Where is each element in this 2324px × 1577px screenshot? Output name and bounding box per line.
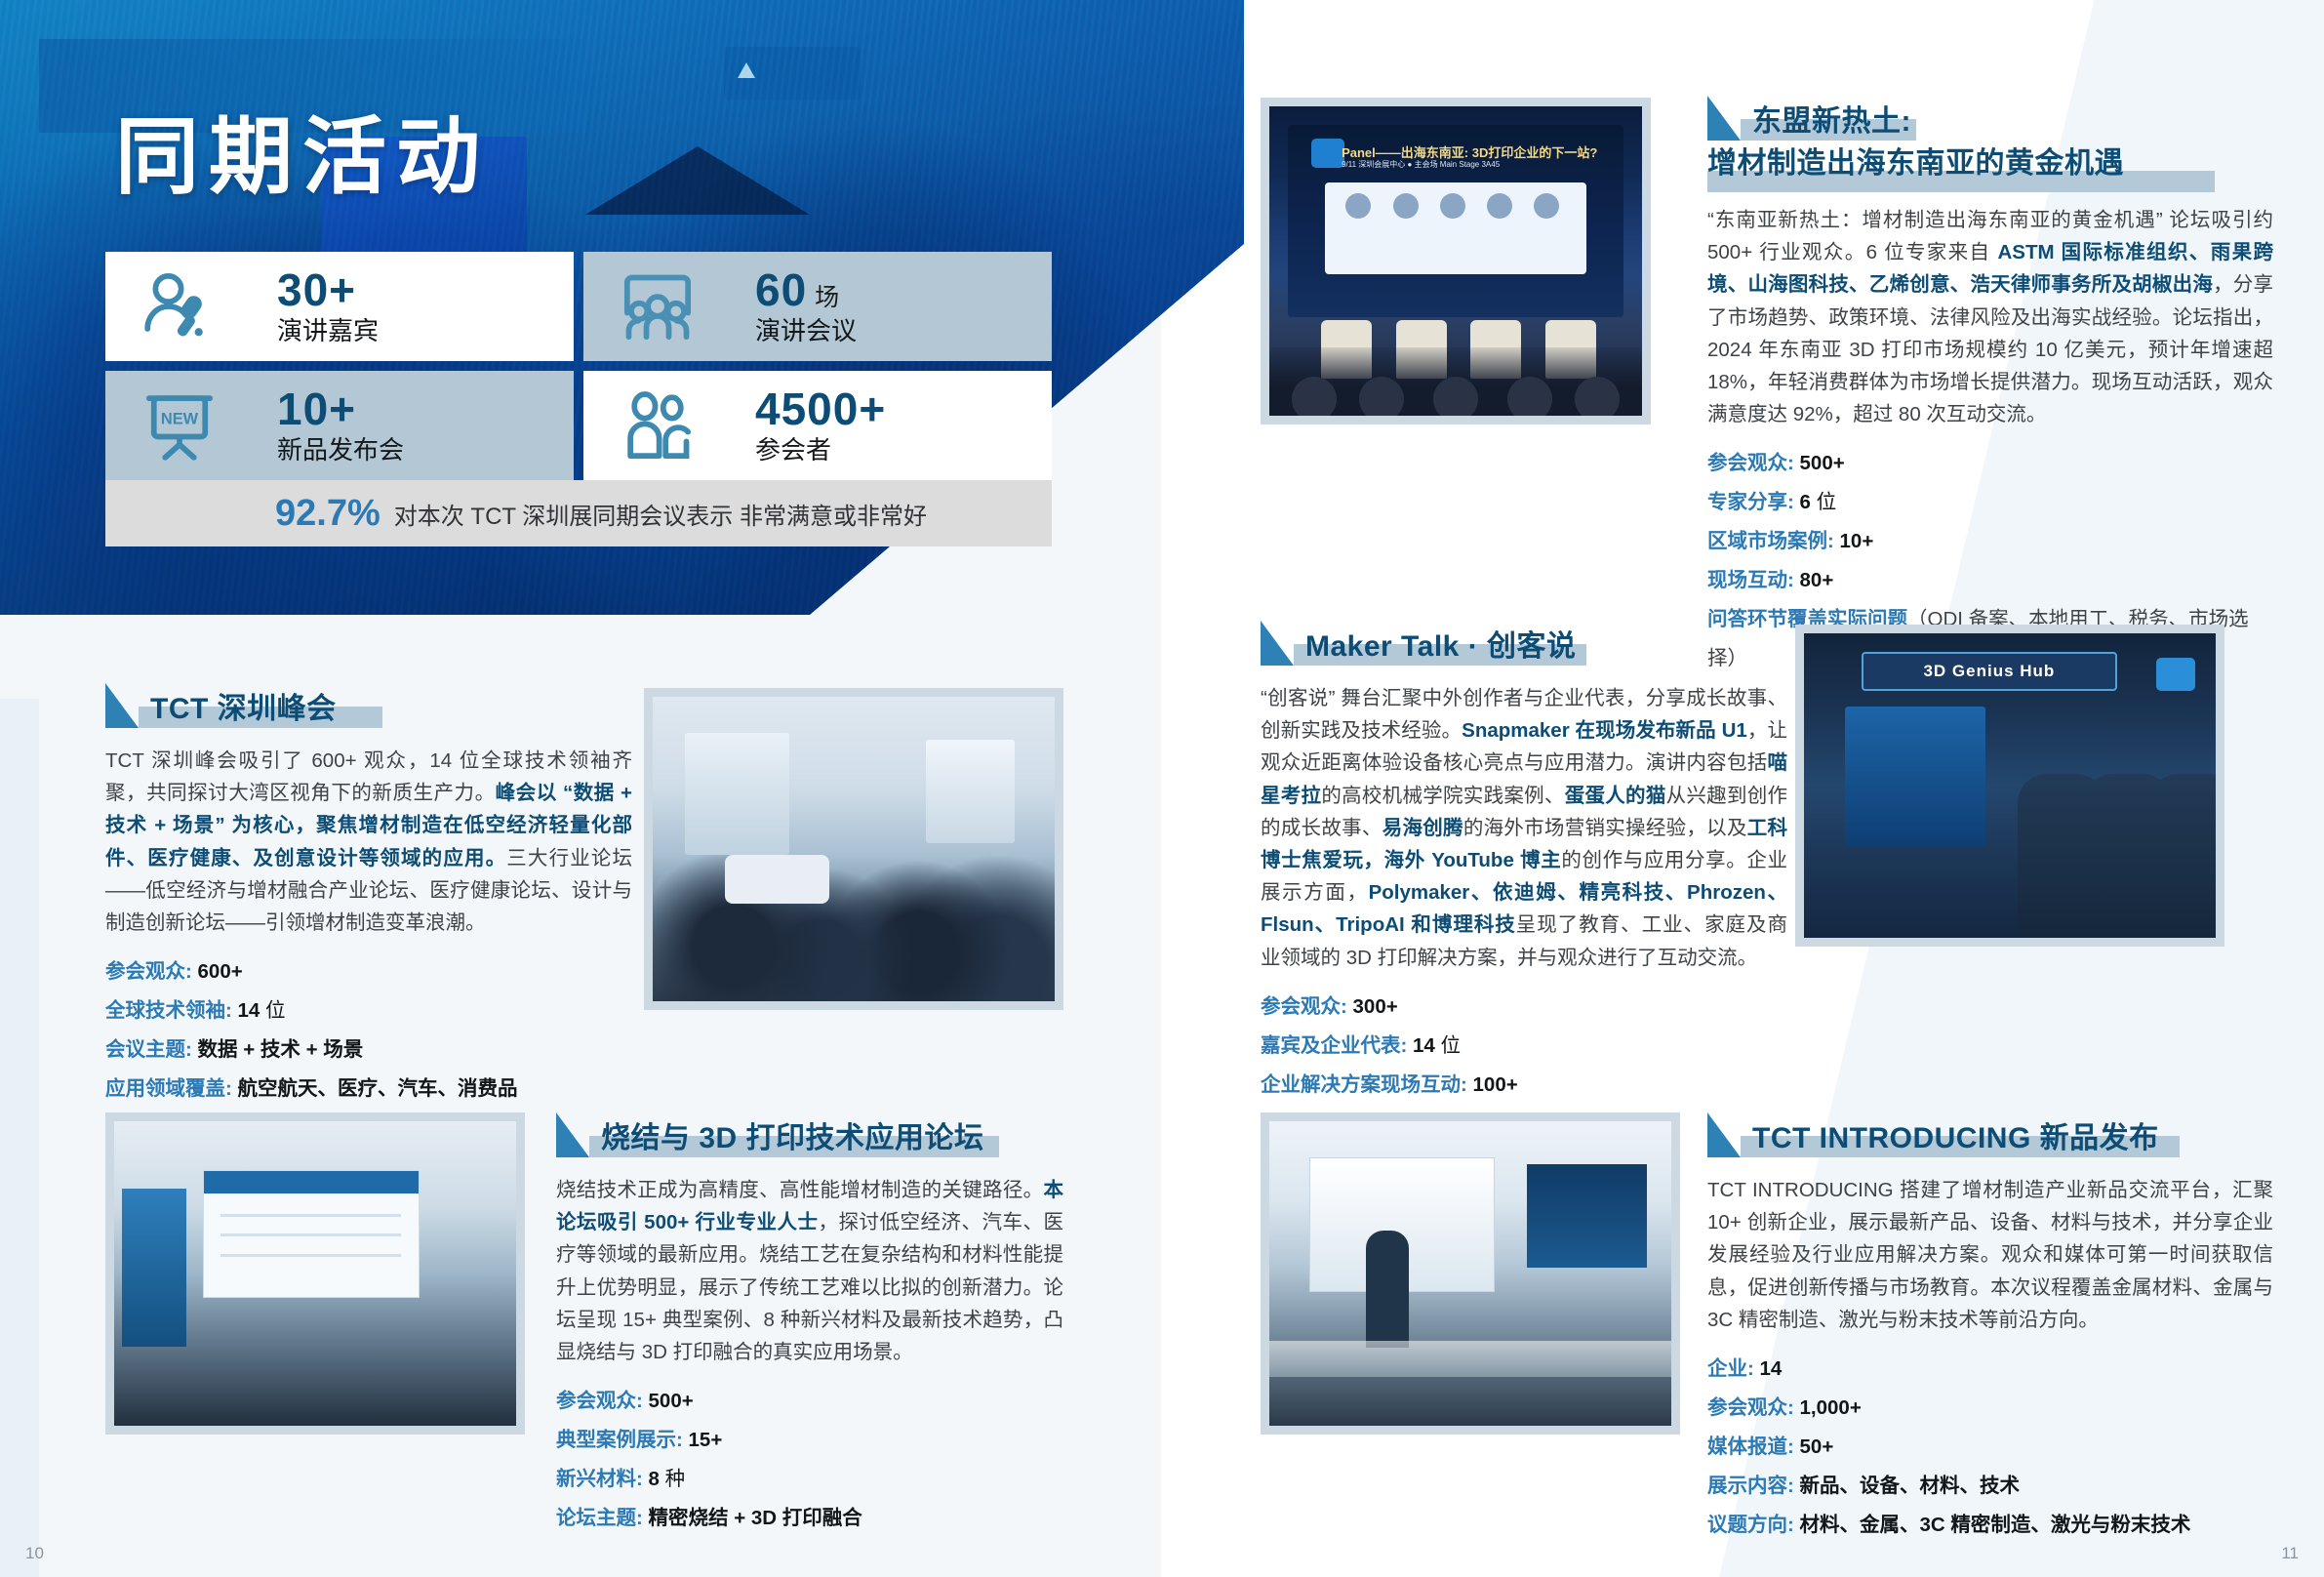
photo-image: 3D Genius Hub xyxy=(1804,633,2216,938)
stat-line-unit: 位 xyxy=(260,999,285,1022)
stat-card-sessions: 60场 演讲会议 xyxy=(583,252,1052,361)
stat-line-value: 50+ xyxy=(1800,1435,1834,1458)
page-number-left: 10 xyxy=(25,1544,44,1563)
speaker-mic-icon xyxy=(135,264,224,348)
stat-value: 60场 xyxy=(755,266,857,313)
stat-line-value: 80+ xyxy=(1800,569,1834,591)
section-heading-maker: Maker Talk · 创客说 xyxy=(1261,621,1604,666)
stat-line: 新兴材料: 8 种 xyxy=(556,1460,1063,1499)
section-sintering: 烧结与 3D 打印技术应用论坛 烧结技术正成为高精度、高性能增材制造的关键路径。… xyxy=(556,1112,1063,1538)
photo-introducing-stage xyxy=(1261,1112,1680,1435)
stat-line-value: 100+ xyxy=(1473,1073,1518,1096)
stat-line-value: 8 xyxy=(649,1468,660,1490)
stat-line-value: 新品、设备、材料、技术 xyxy=(1800,1475,2021,1497)
section-paragraph: “东南亚新热土：增材制造出海东南亚的黄金机遇” 论坛吸引约 500+ 行业观众。… xyxy=(1707,204,2273,430)
stat-line: 参会观众: 500+ xyxy=(1707,444,2273,483)
slide-header xyxy=(204,1171,419,1193)
stat-line: 应用领域覆盖: 航空航天、医疗、汽车、消费品 xyxy=(105,1070,632,1109)
stat-line-value: 14 xyxy=(1760,1357,1783,1380)
exit-sign xyxy=(724,47,861,100)
stat-line: 全球技术领袖: 14 位 xyxy=(105,991,632,1031)
section-paragraph: 烧结技术正成为高精度、高性能增材制造的关键路径。本论坛吸引 500+ 行业专业人… xyxy=(556,1174,1063,1368)
paragraph-emphasis: 蛋蛋人的猫 xyxy=(1565,785,1666,807)
photo-sintering-forum xyxy=(105,1112,525,1435)
stat-line: 会议主题: 数据 + 技术 + 场景 xyxy=(105,1031,632,1070)
stat-line-key: 嘉宾及企业代表: xyxy=(1261,1034,1413,1057)
stat-line-unit: 位 xyxy=(1435,1034,1461,1057)
stat-line-unit: 种 xyxy=(660,1468,685,1490)
stat-line-value: 300+ xyxy=(1353,995,1398,1018)
genius-hub-label: 3D Genius Hub xyxy=(1863,654,2115,690)
side-banner xyxy=(122,1189,186,1347)
section-maker: Maker Talk · 创客说 “创客说” 舞台汇聚中外创作者与企业代表，分享… xyxy=(1261,621,1787,1105)
avatar xyxy=(1440,193,1465,219)
section-title: TCT INTRODUCING 新品发布 xyxy=(1741,1122,2169,1158)
photo-asean-panel: Panel——出海东南亚: 3D打印企业的下一站? 9/11 深圳会展中心 ● … xyxy=(1261,98,1651,425)
stat-line: 企业: 14 xyxy=(1707,1350,2273,1389)
section-paragraph: TCT INTRODUCING 搭建了增材制造产业新品交流平台，汇聚 10+ 创… xyxy=(1707,1174,2273,1336)
stat-line-value: 10+ xyxy=(1840,530,1874,552)
booth-right xyxy=(926,740,1015,843)
stat-label: 参会者 xyxy=(755,434,886,466)
speaker-person xyxy=(1366,1231,1409,1348)
people-group-icon xyxy=(613,384,702,467)
stat-line-key: 参会观众: xyxy=(105,960,198,983)
stat-line-value: 材料、金属、3C 精密制造、激光与粉末技术 xyxy=(1800,1514,2191,1536)
stat-text-launches: 10+ 新品发布会 xyxy=(277,385,404,466)
section-title: 烧结与 3D 打印技术应用论坛 xyxy=(589,1122,994,1158)
stat-line-value: 600+ xyxy=(198,960,243,983)
stat-line-key: 企业解决方案现场互动: xyxy=(1261,1073,1473,1096)
sofa xyxy=(725,855,829,904)
stat-line-value: 1,000+ xyxy=(1800,1396,1862,1419)
page-title: 同期活动 xyxy=(115,115,490,199)
heading-flag-icon xyxy=(1707,96,1741,141)
booth-person xyxy=(2149,774,2224,938)
section-paragraph: “创客说” 舞台汇聚中外创作者与企业代表，分享成长故事、创新实践及技术经验。Sn… xyxy=(1261,682,1787,974)
stat-line-key: 全球技术领袖: xyxy=(105,999,238,1022)
stat-text-sessions: 60场 演讲会议 xyxy=(755,266,857,347)
stat-line: 参会观众: 600+ xyxy=(105,952,632,991)
stat-text-attendees: 4500+ 参会者 xyxy=(755,385,886,466)
stat-line-key: 展示内容: xyxy=(1707,1475,1800,1497)
stat-card-launches: NEW 10+ 新品发布会 xyxy=(105,371,574,480)
heading-flag-icon xyxy=(105,683,139,728)
section-kv-list: 参会观众: 500+专家分享: 6 位区域市场案例: 10+现场互动: 80+ xyxy=(1707,444,2273,600)
section-kv-list: 参会观众: 300+嘉宾及企业代表: 14 位企业解决方案现场互动: 100+ xyxy=(1261,988,1787,1105)
stat-line: 论坛主题: 精密烧结 + 3D 打印融合 xyxy=(556,1499,1063,1538)
stat-line-value: 数据 + 技术 + 场景 xyxy=(198,1038,364,1061)
stat-card-speakers: 30+ 演讲嘉宾 xyxy=(105,252,574,361)
section-title: Maker Talk · 创客说 xyxy=(1294,630,1586,667)
section-paragraph: TCT 深圳峰会吸引了 600+ 观众，14 位全球技术领袖齐聚，共同探讨大湾区… xyxy=(105,745,632,939)
section-heading-asean-line1: 东盟新热土: xyxy=(1707,96,1939,141)
stat-line: 参会观众: 1,000+ xyxy=(1707,1389,2273,1428)
avatar xyxy=(1487,193,1512,219)
stat-value: 10+ xyxy=(277,385,404,432)
crowd-head xyxy=(1359,377,1404,422)
crowd-head xyxy=(1575,377,1620,422)
paragraph-text: TCT INTRODUCING 搭建了增材制造产业新品交流平台，汇聚 10+ 创… xyxy=(1707,1179,2273,1331)
section-heading-introducing: TCT INTRODUCING 新品发布 xyxy=(1707,1112,2186,1157)
stat-line-value: 15+ xyxy=(689,1429,723,1451)
stat-line-unit: 位 xyxy=(1811,491,1836,513)
stat-line-key: 区域市场案例: xyxy=(1707,530,1840,552)
paragraph-emphasis: 易海创腾 xyxy=(1382,817,1463,839)
stat-line-value: 精密烧结 + 3D 打印融合 xyxy=(649,1507,862,1529)
slide-line xyxy=(220,1214,401,1217)
stat-row-top: 30+ 演讲嘉宾 xyxy=(105,252,1052,361)
stat-line-value: 500+ xyxy=(649,1390,694,1412)
stat-line-key: 媒体报道: xyxy=(1707,1435,1800,1458)
stage-screen: Panel——出海东南亚: 3D打印企业的下一站? 9/11 深圳会展中心 ● … xyxy=(1288,125,1623,317)
stat-label: 新品发布会 xyxy=(277,434,404,466)
section-title: TCT 深圳峰会 xyxy=(139,693,346,729)
stat-line: 参会观众: 500+ xyxy=(556,1382,1063,1421)
stat-line-key: 参会观众: xyxy=(1261,995,1353,1018)
stat-line: 议题方向: 材料、金属、3C 精密制造、激光与粉末技术 xyxy=(1707,1506,2273,1545)
audience-chairs xyxy=(1269,1341,1671,1377)
stat-line-key: 论坛主题: xyxy=(556,1507,649,1529)
booth-left xyxy=(685,733,789,855)
stat-line-key: 新兴材料: xyxy=(556,1468,649,1490)
stat-text-speakers: 30+ 演讲嘉宾 xyxy=(277,266,379,347)
crowd-head xyxy=(1507,377,1552,422)
tct-logo-icon xyxy=(1311,139,1344,168)
paragraph-text: 的海外市场营销实操经验，以及 xyxy=(1463,817,1747,839)
left-edge-strip xyxy=(0,699,39,1577)
section-heading-summit: TCT 深圳峰会 xyxy=(105,683,364,728)
tent-canopy xyxy=(585,146,810,215)
stage-screen xyxy=(1527,1164,1648,1268)
photo-image: Panel——出海东南亚: 3D打印企业的下一站? 9/11 深圳会展中心 ● … xyxy=(1269,106,1642,416)
stat-line-key: 参会观众: xyxy=(1707,452,1800,474)
stat-card-grid: 30+ 演讲嘉宾 xyxy=(105,252,1052,490)
stat-line: 企业解决方案现场互动: 100+ xyxy=(1261,1066,1787,1105)
photo-image xyxy=(1269,1121,1671,1426)
paragraph-text: 烧结技术正成为高精度、高性能增材制造的关键路径。 xyxy=(556,1179,1044,1201)
paragraph-text: 的高校机械学院实践案例、 xyxy=(1321,785,1564,807)
panel-speaker-card xyxy=(1325,182,1586,274)
stat-line: 媒体报道: 50+ xyxy=(1707,1428,2273,1467)
section-asean: 东盟新热土: 增材制造出海东南亚的黄金机遇 “东南亚新热土：增材制造出海东南亚的… xyxy=(1707,96,2273,678)
stat-line-key: 应用领域覆盖: xyxy=(105,1077,238,1100)
stat-line-key: 专家分享: xyxy=(1707,491,1800,513)
screen-subtitle: 9/11 深圳会展中心 ● 主会场 Main Stage 3A45 xyxy=(1342,159,1500,170)
section-subtitle: 增材制造出海东南亚的黄金机遇 xyxy=(1707,147,2256,183)
paragraph-emphasis: Snapmaker 在现场发布新品 U1 xyxy=(1462,719,1747,742)
stat-line-key: 参会观众: xyxy=(556,1390,649,1412)
stat-line-key: 议题方向: xyxy=(1707,1514,1800,1536)
stat-line-value: 6 xyxy=(1800,491,1811,513)
slide-line xyxy=(220,1254,401,1257)
avatar xyxy=(1393,193,1419,219)
stat-line: 嘉宾及企业代表: 14 位 xyxy=(1261,1027,1787,1066)
crowd-head xyxy=(1292,377,1337,422)
satisfaction-bar: 92.7% 对本次 TCT 深圳展同期会议表示 非常满意或非常好 xyxy=(105,480,1052,546)
section-kv-list: 参会观众: 500+典型案例展示: 15+新兴材料: 8 种论坛主题: 精密烧结… xyxy=(556,1382,1063,1538)
stat-line-value: 航空航天、医疗、汽车、消费品 xyxy=(238,1077,518,1100)
brochure-spread: 同期活动 30+ 演讲嘉宾 xyxy=(0,0,2324,1577)
section-heading-asean-line2: 增材制造出海东南亚的黄金机遇 xyxy=(1707,147,2273,192)
new-product-board-icon: NEW xyxy=(135,384,224,467)
stat-value: 4500+ xyxy=(755,385,886,432)
stat-label: 演讲会议 xyxy=(755,315,857,347)
photo-summit-audience xyxy=(644,688,1063,1010)
photo-image xyxy=(114,1121,516,1426)
section-kv-list: 企业: 14参会观众: 1,000+媒体报道: 50+展示内容: 新品、设备、材… xyxy=(1707,1350,2273,1545)
stat-card-attendees: 4500+ 参会者 xyxy=(583,371,1052,480)
stat-line: 展示内容: 新品、设备、材料、技术 xyxy=(1707,1467,2273,1506)
section-heading-sintering: 烧结与 3D 打印技术应用论坛 xyxy=(556,1112,1012,1157)
stat-line: 典型案例展示: 15+ xyxy=(556,1421,1063,1460)
section-summit: TCT 深圳峰会 TCT 深圳峰会吸引了 600+ 观众，14 位全球技术领袖齐… xyxy=(105,683,632,1109)
audience-screen-icon xyxy=(613,264,702,348)
stat-value: 30+ xyxy=(277,266,379,313)
section-kv-list: 参会观众: 600+全球技术领袖: 14 位会议主题: 数据 + 技术 + 场景… xyxy=(105,952,632,1109)
heading-flag-icon xyxy=(1707,1112,1741,1157)
stat-row-bottom: NEW 10+ 新品发布会 xyxy=(105,371,1052,480)
stat-line-key: 参会观众: xyxy=(1707,1396,1800,1419)
stat-line: 区域市场案例: 10+ xyxy=(1707,522,2273,561)
crowd-head xyxy=(1433,377,1478,422)
svg-text:NEW: NEW xyxy=(161,410,199,427)
stat-line: 专家分享: 6 位 xyxy=(1707,483,2273,522)
presentation-slide xyxy=(203,1170,420,1298)
stat-line-value: 14 xyxy=(238,999,260,1022)
section-introducing: TCT INTRODUCING 新品发布 TCT INTRODUCING 搭建了… xyxy=(1707,1112,2273,1545)
satisfaction-percent: 92.7% xyxy=(275,493,381,535)
avatar xyxy=(1534,193,1559,219)
satisfaction-text: 对本次 TCT 深圳展同期会议表示 非常满意或非常好 xyxy=(394,497,927,531)
heading-flag-icon xyxy=(556,1112,589,1157)
heading-flag-icon xyxy=(1261,621,1294,666)
stat-line-value: 500+ xyxy=(1800,452,1845,474)
screen-title: Panel——出海东南亚: 3D打印企业的下一站? xyxy=(1342,142,1597,161)
stat-line-key: 现场互动: xyxy=(1707,569,1800,591)
stat-line-key: 企业: xyxy=(1707,1357,1760,1380)
stat-label: 演讲嘉宾 xyxy=(277,315,379,347)
avatar xyxy=(1345,193,1371,219)
page-number-right: 11 xyxy=(2281,1544,2299,1563)
photo-maker-booth: 3D Genius Hub xyxy=(1795,625,2224,947)
paragraph-text: ，探讨低空经济、汽车、医疗等领域的最新应用。烧结工艺在复杂结构和材料性能提升上优… xyxy=(556,1211,1063,1363)
stat-line: 参会观众: 300+ xyxy=(1261,988,1787,1027)
section-title: 东盟新热土: xyxy=(1741,105,1921,142)
stat-line-key: 会议主题: xyxy=(105,1038,198,1061)
audience-crowd xyxy=(1269,347,1642,416)
stat-unit: 场 xyxy=(815,284,839,311)
stat-number: 60 xyxy=(755,264,807,315)
photo-image xyxy=(653,697,1055,1001)
stat-line: 现场互动: 80+ xyxy=(1707,561,2273,600)
booth-banner xyxy=(1845,707,1984,847)
stat-line-key: 典型案例展示: xyxy=(556,1429,689,1451)
tct-logo-icon xyxy=(2156,658,2195,691)
stat-line-value: 14 xyxy=(1413,1034,1435,1057)
slide-line xyxy=(220,1233,401,1236)
paragraph-text: ，分享了市场趋势、政策环境、法律风险及出海实战经验。论坛指出，2024 年东南亚… xyxy=(1707,273,2273,425)
genius-hub-sign: 3D Genius Hub xyxy=(1862,652,2117,692)
